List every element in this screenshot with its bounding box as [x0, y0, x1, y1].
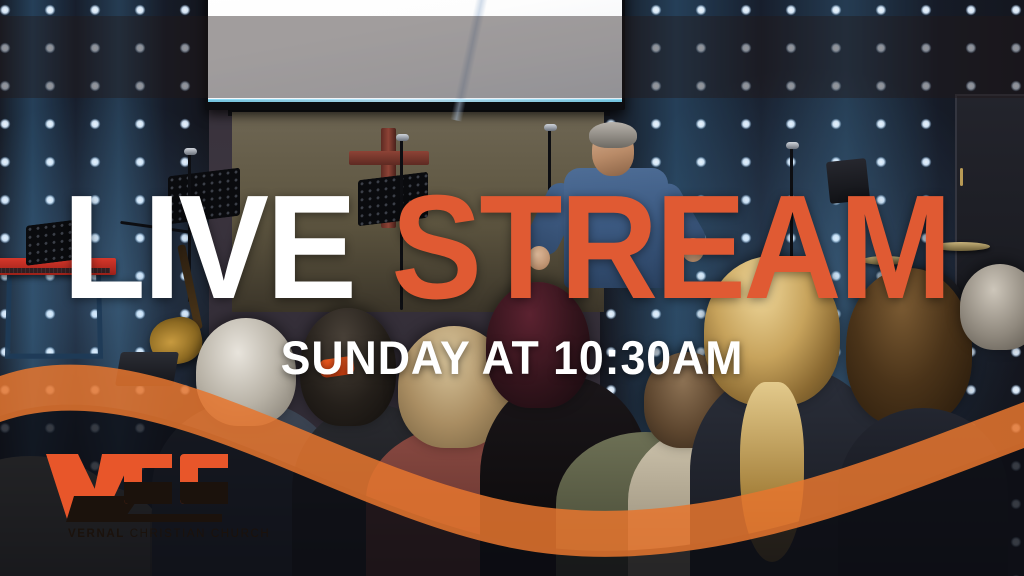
logo-c-dark-2 — [180, 482, 228, 504]
logo-underline — [74, 514, 222, 522]
top-dark-overlay-band — [0, 16, 1024, 98]
livestream-promo-graphic: LIVESTREAM SUNDAY AT 10:30AM VERNAL CHRI… — [0, 0, 1024, 576]
microphone-right — [786, 142, 799, 149]
vcc-logo: VERNAL CHRISTIAN CHURCH — [44, 452, 254, 552]
microphone-left — [184, 148, 197, 155]
projection-screen-edge-light — [208, 99, 622, 102]
headline-stream: STREAM — [391, 186, 949, 310]
logo-tagline: VERNAL CHRISTIAN CHURCH — [68, 528, 270, 540]
logo-tagline-bold: VERNAL — [68, 528, 125, 540]
door-handle — [960, 168, 963, 186]
microphone-center — [396, 134, 409, 141]
headline: LIVESTREAM — [0, 186, 1024, 310]
logo-tagline-regular: CHRISTIAN CHURCH — [130, 528, 271, 540]
cross-horizontal-beam — [349, 151, 429, 165]
preacher-hair — [589, 122, 637, 148]
logo-c-dark-1 — [124, 482, 172, 504]
vcc-monogram-icon — [44, 452, 240, 522]
headline-live: LIVE — [63, 186, 355, 310]
subheadline-service-time: SUNDAY AT 10:30AM — [26, 330, 999, 385]
